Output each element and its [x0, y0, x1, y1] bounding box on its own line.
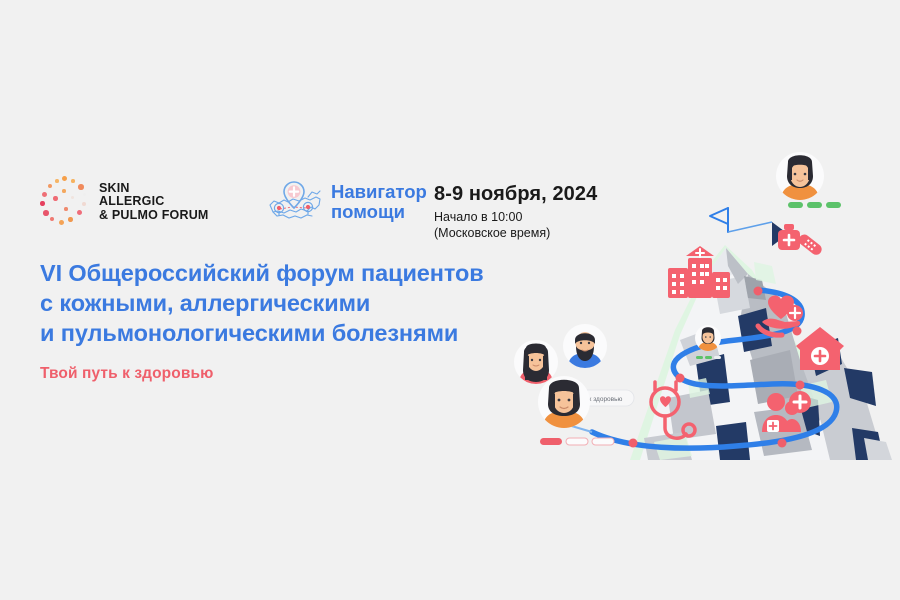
logo-line-1: SKIN — [99, 182, 209, 196]
navigator-line-1: Навигатор — [331, 182, 427, 202]
first-aid-kit-icon — [778, 224, 824, 257]
event-banner: SKIN ALLERGIC & PULMO FORUM — [0, 0, 900, 600]
logo-line-2: ALLERGIC — [99, 195, 209, 209]
mountain-health-journey-illustration: путь к здоровью — [500, 150, 900, 470]
avatar-woman-long-hair[interactable] — [514, 340, 558, 386]
summit-progress-bar — [788, 202, 841, 208]
navigator-line-2: помощи — [331, 202, 427, 222]
page-title: VI Общероссийский форум пациентов с кожн… — [40, 258, 484, 348]
logo-skin-allergic-text: SKIN ALLERGIC & PULMO FORUM — [99, 182, 209, 223]
headline-line-2: с кожными, аллергическими — [40, 288, 484, 318]
tagline: Твой путь к здоровью — [40, 365, 213, 383]
dot-circle-icon — [40, 176, 92, 228]
avatar-woman-summit[interactable] — [776, 152, 824, 204]
avatar-woman-bob-start[interactable] — [538, 376, 590, 431]
start-progress-bar — [540, 438, 614, 445]
summit-flag-outline-icon — [710, 208, 728, 232]
avatar-man-beard[interactable] — [563, 324, 607, 370]
logo-navigator-text: Навигатор помощи — [331, 182, 427, 222]
logo-line-3: & PULMO FORUM — [99, 209, 209, 223]
headline-line-3: и пульмонологическими болезнями — [40, 318, 484, 348]
map-pin-cross-icon — [267, 178, 323, 226]
logo-skin-allergic-forum[interactable]: SKIN ALLERGIC & PULMO FORUM — [40, 176, 215, 228]
headline-line-1: VI Общероссийский форум пациентов — [40, 258, 484, 288]
logo-navigator-pomoshi[interactable]: Навигатор помощи — [267, 178, 427, 226]
home-medical-cross-icon — [796, 327, 844, 370]
